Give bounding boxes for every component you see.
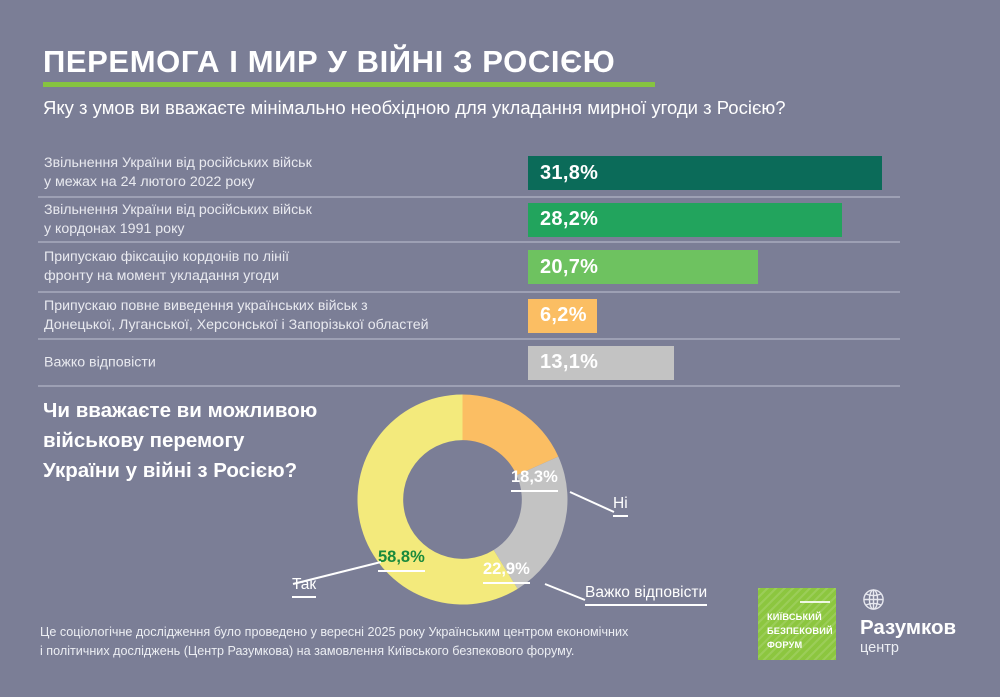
razumkov-name: Разумков bbox=[860, 616, 956, 639]
kbf-logo-line-1: КИЇВСЬКИЙ bbox=[767, 610, 833, 624]
bar-row: Припускаю повне виведення українських ві… bbox=[38, 293, 900, 340]
kbf-logo-rule bbox=[800, 601, 830, 603]
donut-value-tak: 58,8% bbox=[378, 548, 425, 572]
bar-row: Звільнення України від російських військ… bbox=[38, 150, 900, 198]
bar-value-label: 28,2% bbox=[540, 208, 598, 231]
footer-note-line-1: Це соціологічне дослідження було проведе… bbox=[40, 623, 700, 642]
bar-row-label: Припускаю фіксацію кордонів по лініїфрон… bbox=[44, 248, 524, 286]
bar-value-label: 6,2% bbox=[540, 304, 587, 327]
bar-track: 13,1% bbox=[528, 346, 674, 380]
donut-label-tak: Так bbox=[292, 576, 316, 598]
donut-chart bbox=[355, 392, 570, 607]
donut-value-vazhko: 22,9% bbox=[483, 560, 530, 584]
leader-line-ni bbox=[570, 492, 616, 514]
bar-fill: 6,2% bbox=[528, 299, 597, 333]
bar-row-label-line-1: Звільнення України від російських військ bbox=[44, 154, 524, 173]
bar-row-label-line-2: у кордонах 1991 року bbox=[44, 220, 524, 239]
kbf-logo: КИЇВСЬКИЙ БЕЗПЕКОВИЙ ФОРУМ bbox=[758, 588, 836, 660]
bar-fill: 31,8% bbox=[528, 156, 882, 190]
infographic-page: ПЕРЕМОГА І МИР У ВІЙНІ З РОСІЄЮ Яку з ум… bbox=[0, 0, 1000, 697]
footer-note-line-2: і політичних досліджень (Центр Разумкова… bbox=[40, 642, 700, 661]
donut-question-line-1: Чи вважаєте ви можливою bbox=[43, 396, 373, 426]
page-title: ПЕРЕМОГА І МИР У ВІЙНІ З РОСІЄЮ bbox=[43, 44, 615, 80]
bar-row-label-line-1: Важко відповісти bbox=[44, 353, 524, 372]
bar-chart-question: Яку з умов ви вважаєте мінімально необхі… bbox=[43, 95, 948, 121]
bar-row-label: Звільнення України від російських військ… bbox=[44, 154, 524, 192]
footer-note: Це соціологічне дослідження було проведе… bbox=[40, 623, 700, 661]
bar-row-label: Звільнення України від російських військ… bbox=[44, 201, 524, 239]
bar-fill: 28,2% bbox=[528, 203, 842, 237]
bar-row-label-line-2: Донецької, Луганської, Херсонської і Зап… bbox=[44, 316, 524, 335]
bar-row-label-line-1: Звільнення України від російських військ bbox=[44, 201, 524, 220]
razumkov-logo: Разумков центр bbox=[860, 586, 956, 657]
bar-row-label-line-1: Припускаю повне виведення українських ві… bbox=[44, 297, 524, 316]
bar-row-label-line-2: фронту на момент укладання угоди bbox=[44, 267, 524, 286]
bar-row-label: Важко відповісти bbox=[44, 353, 524, 372]
bar-row-label-line-1: Припускаю фіксацію кордонів по лінії bbox=[44, 248, 524, 267]
kbf-logo-line-3: ФОРУМ bbox=[767, 638, 833, 652]
kbf-logo-text: КИЇВСЬКИЙ БЕЗПЕКОВИЙ ФОРУМ bbox=[767, 610, 833, 652]
donut-chart-question: Чи вважаєте ви можливою військову перемо… bbox=[43, 396, 373, 486]
globe-icon bbox=[860, 586, 887, 613]
title-underline-rule bbox=[43, 82, 655, 87]
bar-row: Припускаю фіксацію кордонів по лініїфрон… bbox=[38, 243, 900, 293]
donut-label-ni: Ні bbox=[613, 495, 628, 517]
razumkov-subtitle: центр bbox=[860, 639, 956, 657]
leader-line-vazhko bbox=[545, 584, 587, 602]
bar-track: 6,2% bbox=[528, 299, 597, 333]
bar-chart: Звільнення України від російських військ… bbox=[38, 150, 900, 387]
bar-row: Звільнення України від російських військ… bbox=[38, 198, 900, 243]
bar-row-label-line-2: у межах на 24 лютого 2022 року bbox=[44, 173, 524, 192]
bar-fill: 20,7% bbox=[528, 250, 758, 284]
donut-value-ni: 18,3% bbox=[511, 468, 558, 492]
bar-track: 20,7% bbox=[528, 250, 758, 284]
bar-track: 31,8% bbox=[528, 156, 882, 190]
kbf-logo-line-2: БЕЗПЕКОВИЙ bbox=[767, 624, 833, 638]
bar-row: Важко відповісти13,1% bbox=[38, 340, 900, 387]
donut-chart-svg bbox=[355, 392, 570, 607]
donut-question-line-2: військову перемогу bbox=[43, 426, 373, 456]
bar-row-label: Припускаю повне виведення українських ві… bbox=[44, 297, 524, 335]
bar-value-label: 13,1% bbox=[540, 351, 598, 374]
bar-value-label: 31,8% bbox=[540, 162, 598, 185]
bar-fill: 13,1% bbox=[528, 346, 674, 380]
bar-value-label: 20,7% bbox=[540, 256, 598, 279]
donut-question-line-3: України у війні з Росією? bbox=[43, 456, 373, 486]
donut-label-vazhko: Важко відповісти bbox=[585, 584, 707, 606]
bar-track: 28,2% bbox=[528, 203, 842, 237]
